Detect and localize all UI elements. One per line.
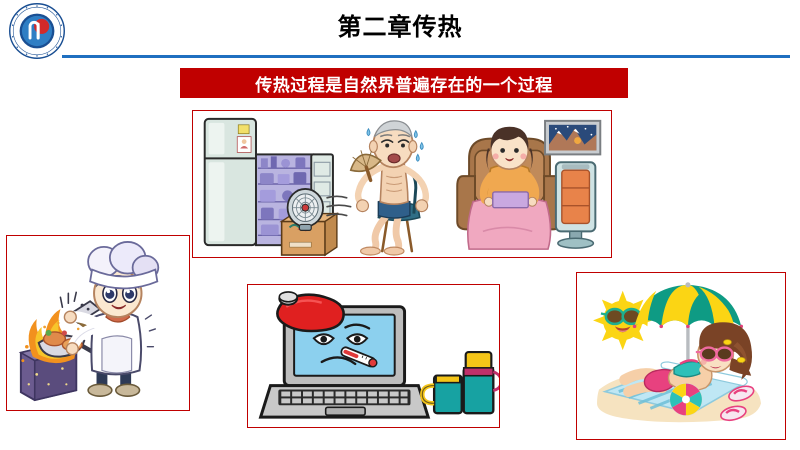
title-divider-rule xyxy=(62,55,790,58)
framed-snow-mountain-picture xyxy=(545,121,600,155)
page-title: 第二章传热 xyxy=(0,10,800,44)
section-banner: 传热过程是自然界普遍存在的一个过程 xyxy=(180,68,628,98)
illustration-panel-beach-sunbathing xyxy=(576,272,786,440)
section-banner-text: 传热过程是自然界普遍存在的一个过程 xyxy=(255,71,553,96)
beach-ball xyxy=(670,384,702,416)
slide-canvas: 第二章传热 传热过程是自然界普遍存在的一个过程 xyxy=(0,0,800,450)
illustration-panel-overheating-laptop xyxy=(247,284,500,428)
illustration-panel-chef-cooking xyxy=(6,235,190,411)
illustration-panel-cooling xyxy=(192,110,612,258)
